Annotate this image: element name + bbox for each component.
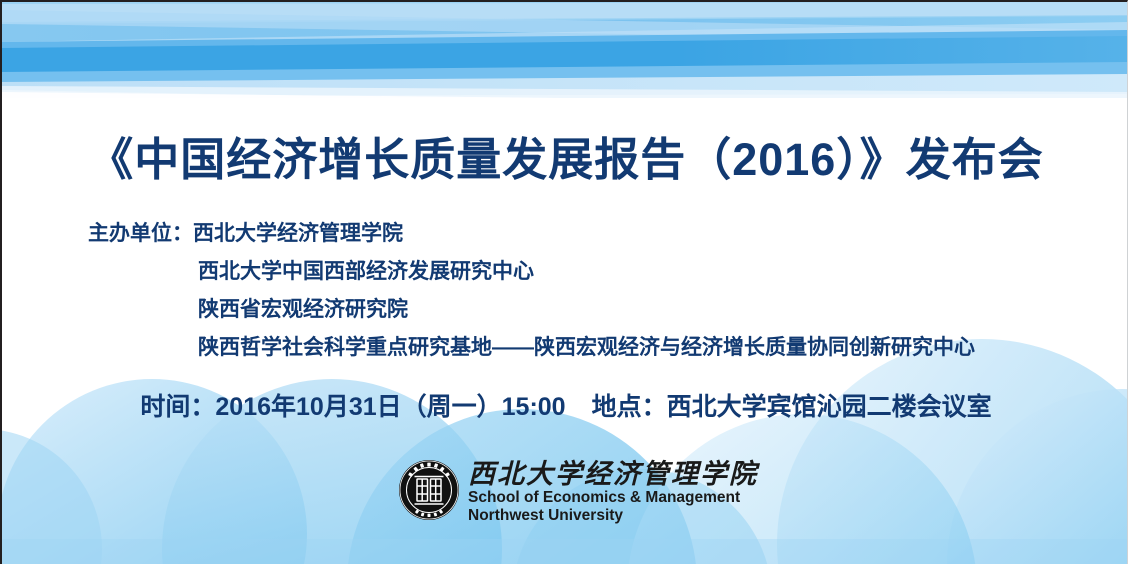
organizer-line-1: 主办单位：西北大学经济管理学院 bbox=[88, 215, 1088, 253]
logo-text-block: 西北大学经济管理学院 School of Economics & Managem… bbox=[468, 459, 758, 525]
place-label: 地点： bbox=[592, 393, 667, 421]
university-seal-icon bbox=[398, 459, 460, 521]
poster-canvas: 《中国经济增长质量发展报告（2016）》发布会 主办单位：西北大学经济管理学院 … bbox=[0, 0, 1128, 564]
time-label: 时间： bbox=[140, 393, 215, 421]
organizer-line-2: 西北大学中国西部经济发展研究中心 bbox=[88, 253, 1088, 291]
logo-english-line-1: School of Economics & Management bbox=[468, 489, 758, 507]
organizers-label: 主办单位： bbox=[88, 222, 193, 245]
logo-english-line-2: Northwest University bbox=[468, 507, 758, 525]
organizer-line-4: 陕西哲学社会科学重点研究基地——陕西宏观经济与经济增长质量协同创新研究中心 bbox=[88, 329, 1088, 367]
organizers-block: 主办单位：西北大学经济管理学院 西北大学中国西部经济发展研究中心 陕西省宏观经济… bbox=[88, 215, 1088, 367]
poster-content: 《中国经济增长质量发展报告（2016）》发布会 主办单位：西北大学经济管理学院 … bbox=[2, 2, 1128, 564]
event-meta-line: 时间：2016年10月31日（周一）15:00地点：西北大学宾馆沁园二楼会议室 bbox=[2, 387, 1128, 423]
school-logo: 西北大学经济管理学院 School of Economics & Managem… bbox=[398, 459, 758, 529]
time-value: 2016年10月31日（周一）15:00 bbox=[215, 393, 565, 421]
organizer-line-3: 陕西省宏观经济研究院 bbox=[88, 291, 1088, 329]
organizer-name-1: 西北大学经济管理学院 bbox=[193, 222, 403, 245]
page-title: 《中国经济增长质量发展报告（2016）》发布会 bbox=[2, 123, 1128, 188]
seal-graphic bbox=[398, 459, 460, 521]
logo-chinese-name: 西北大学经济管理学院 bbox=[468, 459, 758, 489]
place-value: 西北大学宾馆沁园二楼会议室 bbox=[667, 393, 992, 421]
